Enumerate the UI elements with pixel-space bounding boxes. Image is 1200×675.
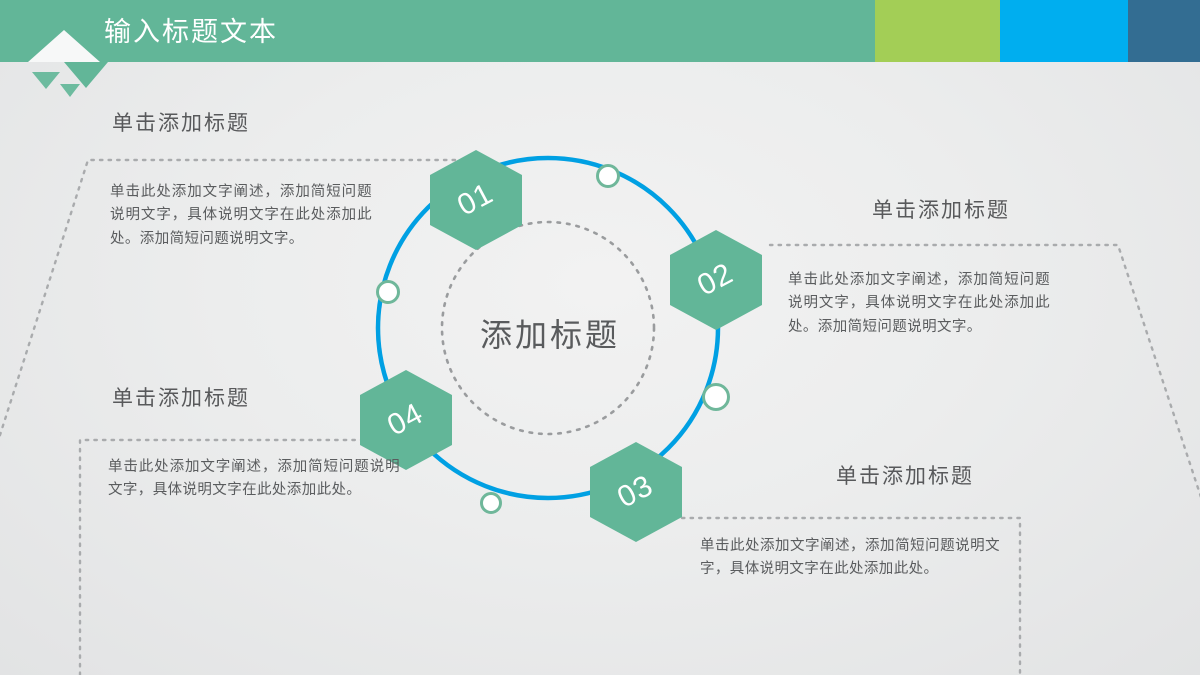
callout-block-bottom-right: 单击添加标题 单击此处添加文字阐述，添加简短问题说明文字，具体说明文字在此处添加…	[836, 466, 1156, 582]
ring-marker-top[interactable]	[596, 164, 620, 188]
callout-title-top-right[interactable]: 单击添加标题	[872, 200, 1172, 221]
callout-block-bottom-left: 单击添加标题 单击此处添加文字阐述，添加简短问题说明文字，具体说明文字在此处添加…	[112, 388, 432, 503]
ring-marker-right[interactable]	[702, 383, 730, 411]
slide-canvas: 输入标题文本 添加标题 01 02 03 04	[0, 0, 1200, 675]
callout-title-bottom-right[interactable]: 单击添加标题	[836, 466, 1156, 487]
callout-block-top-left: 单击添加标题 单击此处添加文字阐述，添加简短问题说明文字，具体说明文字在此处添加…	[112, 113, 412, 251]
callout-body-top-left[interactable]: 单击此处添加文字阐述，添加简短问题说明文字，具体说明文字在此处添加此处。添加简短…	[110, 181, 372, 251]
ring-marker-left[interactable]	[376, 280, 400, 304]
callout-body-bottom-right[interactable]: 单击此处添加文字阐述，添加简短问题说明文字，具体说明文字在此处添加此处。	[700, 535, 1000, 582]
callout-body-bottom-left[interactable]: 单击此处添加文字阐述，添加简短问题说明文字，具体说明文字在此处添加此处。	[108, 456, 400, 503]
hex-node-03-number: 03	[612, 469, 659, 516]
hex-node-01-number: 01	[452, 177, 499, 224]
hex-node-02-number: 02	[692, 257, 739, 304]
callout-title-top-left[interactable]: 单击添加标题	[112, 113, 412, 134]
ring-marker-bottom[interactable]	[480, 492, 502, 514]
callout-body-top-right[interactable]: 单击此处添加文字阐述，添加简短问题说明文字，具体说明文字在此处添加此处。添加简短…	[788, 269, 1050, 339]
callout-title-bottom-left[interactable]: 单击添加标题	[112, 388, 432, 409]
callout-block-top-right: 单击添加标题 单击此处添加文字阐述，添加简短问题说明文字，具体说明文字在此处添加…	[872, 200, 1172, 339]
